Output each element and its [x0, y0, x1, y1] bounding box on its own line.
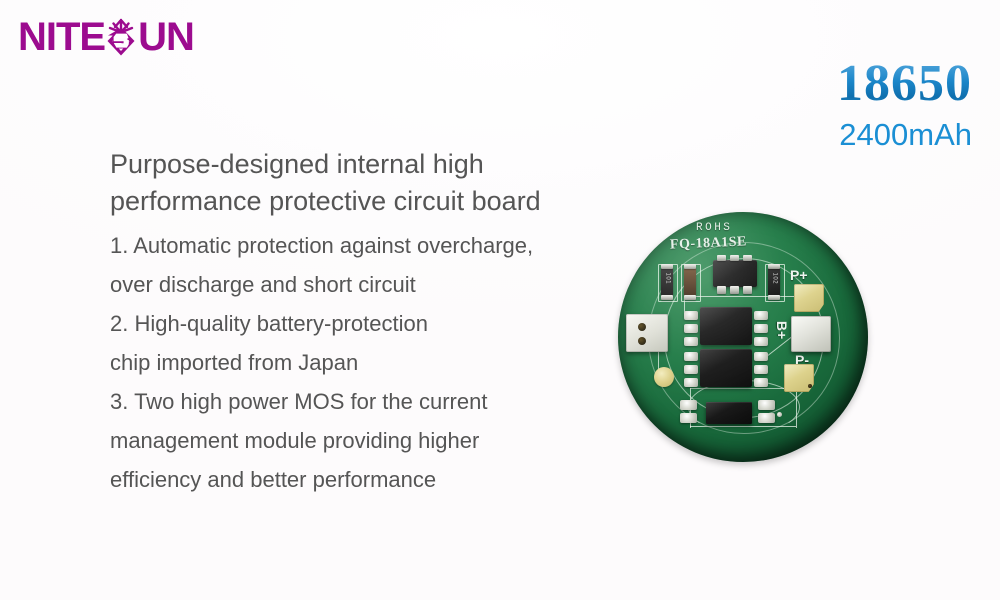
pin: [684, 264, 696, 269]
solder-pad: [754, 352, 768, 361]
pin: [743, 255, 752, 261]
feature-3-line-1: 3. Two high power MOS for the current: [110, 382, 610, 421]
solder-pad: [754, 324, 768, 333]
resistor-101: 101: [661, 268, 673, 296]
headline-line-1: Purpose-designed internal high: [110, 146, 610, 183]
solder-pad: [754, 337, 768, 346]
feature-2-line-2: chip imported from Japan: [110, 343, 610, 382]
pcb-substrate: ROHS FQ-18A1SE P+ B+ P- B- 101: [618, 212, 868, 462]
solder-pad: [684, 378, 698, 387]
solder-pad: [684, 352, 698, 361]
pin: [730, 286, 739, 294]
pin: [717, 286, 726, 294]
brand-logo[interactable]: NITE UN: [18, 14, 194, 60]
via: [638, 323, 646, 331]
pin: [730, 255, 739, 261]
mosfet-lower: [700, 349, 752, 387]
copy-block: Purpose-designed internal high performan…: [110, 146, 610, 499]
solder-pad: [754, 365, 768, 374]
brand-wordmark: NITE UN: [18, 15, 194, 59]
brand-name-part1: NITE: [18, 17, 105, 57]
via: [808, 384, 812, 388]
feature-2-line-1: 2. High-quality battery-protection: [110, 304, 610, 343]
capacitor: [684, 268, 696, 296]
sun-diamond-icon: [101, 16, 141, 60]
feature-3-line-2: management module providing higher: [110, 421, 610, 460]
page-title: Purpose-designed internal high performan…: [110, 146, 610, 220]
battery-model: 18650: [837, 58, 972, 110]
solder-pad: [684, 337, 698, 346]
pad-label-p-plus: P+: [790, 267, 808, 283]
protection-ic: [713, 260, 757, 287]
product-feature-banner: NITE UN 18650 2400mAh Purpose-d: [0, 0, 1000, 600]
battery-capacity: 2400mAh: [837, 119, 972, 150]
solder-pad: [754, 378, 768, 387]
pin: [717, 255, 726, 261]
solder-pad: [758, 400, 775, 410]
feature-3-line-3: efficiency and better performance: [110, 460, 610, 499]
test-point-gold: [654, 367, 674, 387]
bottom-component: [706, 402, 752, 424]
solder-pad: [680, 413, 697, 423]
mosfet-upper: [700, 307, 752, 345]
pad-b-plus: [791, 316, 831, 352]
via: [638, 337, 646, 345]
pin: [768, 295, 780, 300]
list-item: 1. Automatic protection against overchar…: [110, 226, 610, 304]
pin: [768, 264, 780, 269]
battery-spec: 18650 2400mAh: [837, 58, 972, 150]
feature-list: 1. Automatic protection against overchar…: [110, 226, 610, 499]
solder-pad: [684, 324, 698, 333]
pin: [743, 286, 752, 294]
solder-pad: [758, 413, 775, 423]
pad-b-minus: [626, 314, 668, 352]
solder-pad: [684, 311, 698, 320]
headline-line-2: performance protective circuit board: [110, 183, 610, 220]
solder-pad: [754, 311, 768, 320]
feature-1-line-1: 1. Automatic protection against overchar…: [110, 226, 610, 265]
resistor-code: 102: [771, 272, 778, 284]
via: [777, 412, 782, 417]
pin: [661, 264, 673, 269]
resistor-102: 102: [768, 268, 780, 296]
pad-p-plus: [794, 284, 824, 312]
feature-1-line-2: over discharge and short circuit: [110, 265, 610, 304]
list-item: 3. Two high power MOS for the current ma…: [110, 382, 610, 499]
pcb-product-image: ROHS FQ-18A1SE P+ B+ P- B- 101: [618, 212, 868, 462]
list-item: 2. High-quality battery-protection chip …: [110, 304, 610, 382]
pad-label-b-plus: B+: [774, 321, 790, 339]
brand-name-part2: UN: [138, 17, 194, 57]
resistor-code: 101: [664, 272, 671, 284]
pin: [684, 295, 696, 300]
pin: [661, 295, 673, 300]
solder-pad: [680, 400, 697, 410]
solder-pad: [684, 365, 698, 374]
